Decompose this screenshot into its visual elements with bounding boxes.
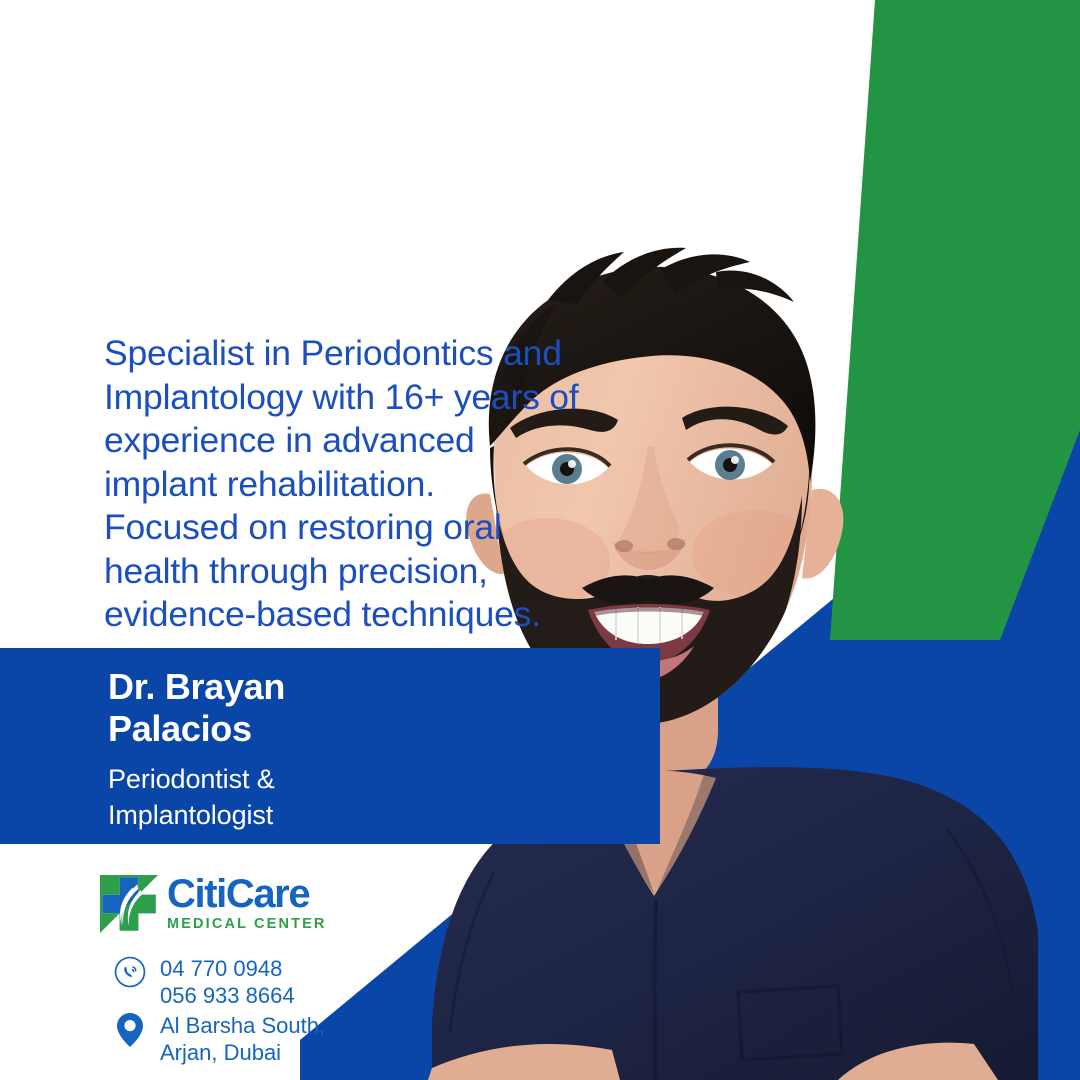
address-text: Al Barsha South, Arjan, Dubai	[160, 1012, 325, 1066]
doctor-name: Dr. Brayan Palacios	[108, 666, 528, 750]
location-pin-icon	[112, 1012, 148, 1048]
promo-poster: Specialist in Periodontics and Implantol…	[0, 0, 1080, 1080]
doctor-role: Periodontist & Implantologist	[108, 761, 528, 833]
contact-row-phone[interactable]: 04 770 0948 056 933 8664	[112, 955, 325, 1009]
medical-cross-icon	[100, 875, 158, 933]
phone-numbers: 04 770 0948 056 933 8664	[160, 955, 295, 1009]
logo-subtitle: MEDICAL CENTER	[167, 916, 327, 933]
bio-text: Specialist in Periodontics and Implantol…	[104, 332, 594, 637]
brand-logo: CitiCare MEDICAL CENTER	[100, 874, 327, 933]
contact-row-address[interactable]: Al Barsha South, Arjan, Dubai	[112, 1012, 325, 1066]
phone-icon	[112, 955, 148, 989]
contact-block: 04 770 0948 056 933 8664 Al Barsha South…	[112, 955, 325, 1066]
logo-title: CitiCare	[167, 874, 327, 914]
logo-wordmark: CitiCare MEDICAL CENTER	[167, 874, 327, 933]
